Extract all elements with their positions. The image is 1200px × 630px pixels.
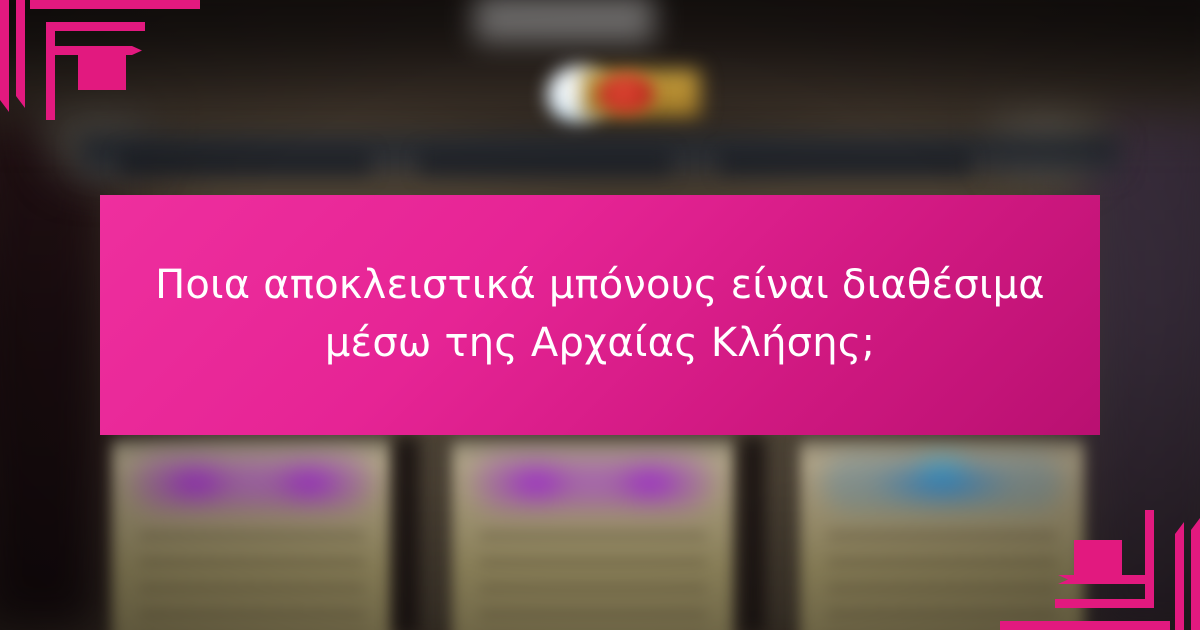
screenshot-stage: Ποια αποκλειστικά μπόνους είναι διαθέσιμ… [0, 0, 1200, 630]
question-banner: Ποια αποκλειστικά μπόνους είναι διαθέσιμ… [100, 195, 1100, 435]
corner-ornament-bottom-right [1000, 510, 1200, 630]
corner-frame-top-left-icon [0, 0, 200, 120]
question-line-1: Ποια αποκλειστικά μπόνους είναι διαθέσιμ… [155, 257, 1045, 315]
corner-frame-bottom-right-icon [1000, 510, 1200, 630]
question-line-2: μέσω της Αρχαίας Κλήσης; [325, 315, 875, 373]
corner-ornament-top-left [0, 0, 200, 120]
